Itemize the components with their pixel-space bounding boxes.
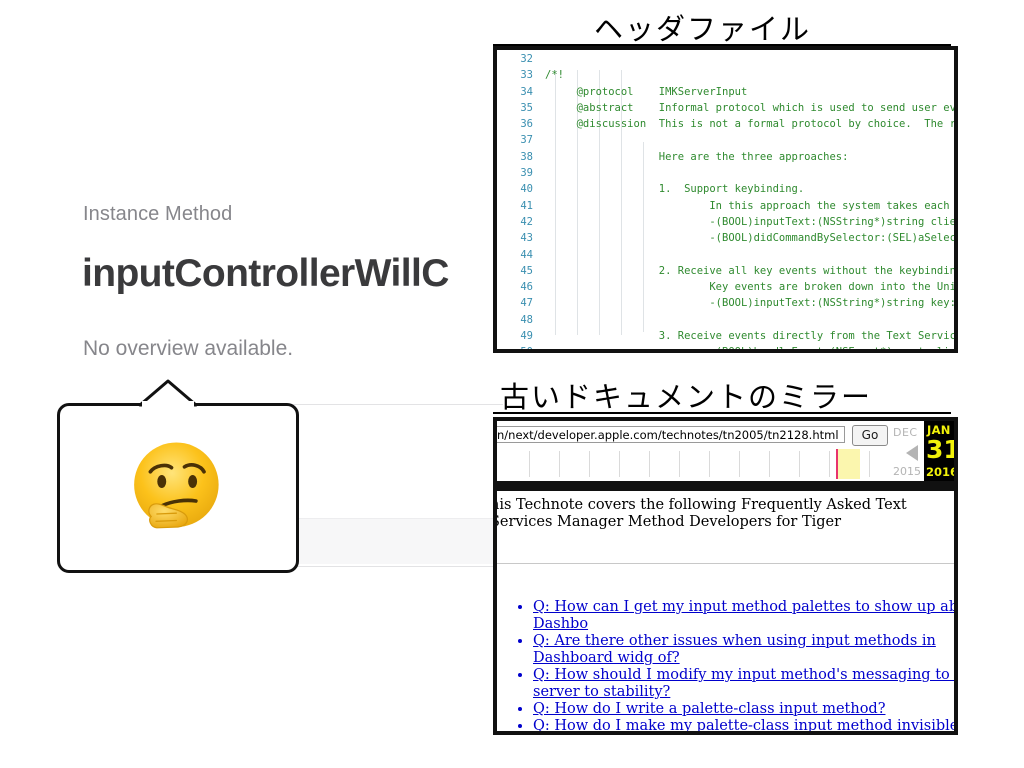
timeline-tick (649, 451, 650, 477)
code-line-source: -(BOOL)didCommandBySelector:(SEL)aSelect… (545, 232, 958, 244)
code-line-source: @abstract Informal protocol which is use… (545, 102, 958, 114)
speech-bubble-tail (138, 379, 198, 407)
timeline-tick (679, 451, 680, 477)
faq-link[interactable]: Q: How do I make my palette-class input … (533, 718, 954, 731)
code-line-number: 46 (497, 279, 545, 295)
code-line-number: 37 (497, 132, 545, 148)
code-line-number: 38 (497, 149, 545, 165)
code-line: 45 2. Receive all key events without the… (497, 263, 958, 279)
wayback-toolbar: n/next/developer.apple.com/technotes/tn2… (497, 421, 954, 485)
list-item: Q: Are there other issues when using inp… (533, 633, 954, 667)
code-line: 46 Key events are broken down into the U… (497, 279, 958, 295)
previous-capture-year: 2015 (893, 465, 921, 478)
timeline-tick (869, 451, 870, 477)
speech-bubble (57, 403, 299, 573)
annotation-old-docs-mirror: 古いドキュメントのミラー (500, 374, 872, 416)
code-line-number: 32 (497, 51, 545, 67)
faq-link[interactable]: Q: How can I get my input method palette… (533, 599, 954, 632)
faq-link-list: Q: How can I get my input method palette… (513, 599, 954, 731)
code-line: 50 -(BOOL)handleEvent:(NSEvent*)event cl… (497, 344, 958, 353)
code-line-source: 1. Support keybinding. (545, 183, 804, 195)
archived-browser-window[interactable]: n/next/developer.apple.com/technotes/tn2… (493, 417, 958, 735)
code-line-source: In this approach the system takes each k… (545, 200, 958, 212)
code-line: 36 @discussion This is not a formal prot… (497, 116, 958, 132)
annotation-underline-old-docs (493, 412, 951, 414)
timeline-tick (799, 451, 800, 477)
code-line-source: @discussion This is not a formal protoco… (545, 118, 958, 130)
doc-overview-text: No overview available. (83, 337, 293, 361)
code-line-source: -(BOOL)inputText:(NSString*)string key:(… (545, 297, 958, 309)
faq-link[interactable]: Q: Are there other issues when using inp… (533, 633, 936, 666)
code-line-number: 47 (497, 295, 545, 311)
timeline-tick (619, 451, 620, 477)
code-line: 33/*! (497, 67, 958, 83)
code-line: 39 (497, 165, 958, 181)
timeline-tick (559, 451, 560, 477)
toolbar-separator (497, 481, 954, 491)
page-title: inputControllerWillC (82, 252, 449, 296)
timeline-tick (589, 451, 590, 477)
code-line: 40 1. Support keybinding. (497, 181, 958, 197)
code-line: 48 (497, 312, 958, 328)
faq-link[interactable]: Q: How do I write a palette-class input … (533, 701, 885, 717)
previous-capture-month: DEC (893, 426, 918, 439)
code-line-source: -(BOOL)inputText:(NSString*)string clien… (545, 216, 958, 228)
header-file-code-window[interactable]: 3233/*!34 @protocol IMKServerInput35 @ab… (493, 46, 958, 353)
timeline-capture-marker (836, 449, 838, 479)
page-intro-text: his Technote covers the following Freque… (497, 497, 954, 531)
list-item: Q: How do I write a palette-class input … (533, 701, 954, 718)
thinking-face-emoji (126, 436, 230, 540)
code-line-number: 41 (497, 198, 545, 214)
code-line-source: @protocol IMKServerInput (545, 86, 747, 98)
code-line-number: 35 (497, 100, 545, 116)
code-line: 34 @protocol IMKServerInput (497, 84, 958, 100)
timeline-tick (739, 451, 740, 477)
list-item: Q: How do I make my palette-class input … (533, 718, 954, 731)
current-capture-date-badge: JAN 31 2016 (924, 421, 954, 481)
timeline-tick (829, 451, 830, 477)
code-line-number: 33 (497, 67, 545, 83)
timeline-capture-highlight[interactable] (836, 449, 860, 479)
capture-timeline[interactable] (497, 447, 889, 481)
code-line-number: 43 (497, 230, 545, 246)
timeline-tick (769, 451, 770, 477)
annotation-header-file: ヘッダファイル (594, 6, 811, 48)
code-line: 32 (497, 51, 958, 67)
timeline-tick (529, 451, 530, 477)
page-horizontal-rule (497, 563, 954, 564)
code-viewport: 3233/*!34 @protocol IMKServerInput35 @ab… (497, 50, 958, 349)
code-line-number: 34 (497, 84, 545, 100)
code-line-number: 39 (497, 165, 545, 181)
go-button[interactable]: Go (852, 425, 888, 446)
code-line-source: -(BOOL)handleEvent:(NSEvent*)event clien… (545, 346, 958, 353)
code-line: 43 -(BOOL)didCommandBySelector:(SEL)aSel… (497, 230, 958, 246)
archived-page-content: his Technote covers the following Freque… (497, 491, 954, 731)
code-line-source: Key events are broken down into the Unic… (545, 281, 958, 293)
code-line-number: 45 (497, 263, 545, 279)
developer-doc-panel: Instance Method inputControllerWillC No … (0, 0, 520, 768)
code-line-source: Here are the three approaches: (545, 151, 848, 163)
doc-symbol-kind: Instance Method (83, 203, 232, 226)
list-item: Q: How should I modify my input method's… (533, 667, 954, 701)
current-capture-day: 31 (926, 435, 954, 464)
code-line: 49 3. Receive events directly from the T… (497, 328, 958, 344)
code-line-source: 2. Receive all key events without the ke… (545, 265, 958, 277)
timeline-tick (709, 451, 710, 477)
code-line: 35 @abstract Informal protocol which is … (497, 100, 958, 116)
code-line-number: 49 (497, 328, 545, 344)
emoji-container (60, 406, 296, 570)
code-line-number: 48 (497, 312, 545, 328)
code-line-list: 3233/*!34 @protocol IMKServerInput35 @ab… (497, 51, 958, 353)
code-line-number: 36 (497, 116, 545, 132)
url-input[interactable]: n/next/developer.apple.com/technotes/tn2… (497, 426, 845, 443)
current-capture-year: 2016 (926, 465, 954, 479)
code-line-number: 42 (497, 214, 545, 230)
previous-capture-arrow-icon[interactable] (906, 445, 918, 461)
faq-link[interactable]: Q: How should I modify my input method's… (533, 667, 954, 700)
code-line-number: 40 (497, 181, 545, 197)
code-line: 44 (497, 247, 958, 263)
code-line: 38 Here are the three approaches: (497, 149, 958, 165)
list-item: Q: How can I get my input method palette… (533, 599, 954, 633)
code-line: 41 In this approach the system takes eac… (497, 198, 958, 214)
code-line: 47 -(BOOL)inputText:(NSString*)string ke… (497, 295, 958, 311)
code-line: 37 (497, 132, 958, 148)
code-line-number: 50 (497, 344, 545, 353)
code-line: 42 -(BOOL)inputText:(NSString*)string cl… (497, 214, 958, 230)
code-line-source: 3. Receive events directly from the Text… (545, 330, 958, 342)
code-line-number: 44 (497, 247, 545, 263)
code-line-source: /*! (545, 69, 564, 81)
